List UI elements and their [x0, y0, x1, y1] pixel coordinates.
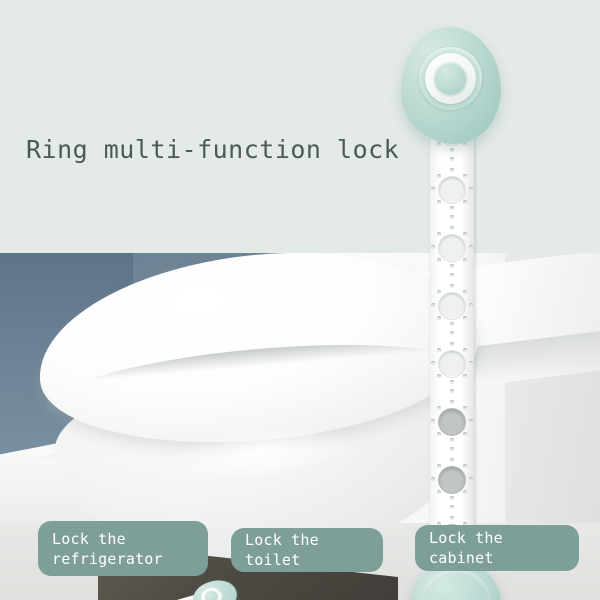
strap-dot — [450, 322, 454, 326]
strap-dot — [463, 174, 467, 178]
strap-hole-unit — [430, 342, 474, 400]
strap-dot — [450, 157, 454, 161]
strap-dot — [469, 303, 473, 307]
strap-dot — [450, 264, 454, 268]
badge-lock-the-refrigerator[interactable]: Lock the refrigerator — [38, 521, 208, 576]
strap-dot — [450, 168, 454, 172]
strap-dot — [437, 200, 441, 204]
title-banner: Ring multi-function lock — [0, 0, 600, 253]
strap-dot — [437, 290, 441, 294]
strap-hole — [438, 408, 466, 436]
strap-dot — [450, 380, 454, 384]
strap-dot — [450, 226, 454, 230]
strap-dot — [469, 361, 473, 365]
installed-lock-left — [125, 578, 255, 600]
strap-dot — [450, 400, 454, 404]
strap-dot — [450, 148, 454, 152]
strap-dot — [463, 490, 467, 494]
strap-dot — [450, 206, 454, 210]
strap-dot — [469, 187, 473, 191]
strap-dot — [437, 316, 441, 320]
strap-dot — [463, 200, 467, 204]
strap-dot — [431, 361, 435, 365]
product-image-canvas: Ring multi-function lock — [0, 0, 600, 600]
strap-hole — [438, 466, 466, 494]
strap-dot — [431, 419, 435, 423]
strap-dot — [450, 496, 454, 500]
strap-dot — [437, 374, 441, 378]
lock-head-knob — [434, 62, 467, 95]
strap-dot — [469, 245, 473, 249]
strap-dot — [437, 174, 441, 178]
strap-dot — [463, 142, 467, 146]
strap-dot — [437, 232, 441, 236]
strap-dot — [431, 477, 435, 481]
strap-dot — [450, 389, 454, 393]
lock-strap — [430, 110, 474, 540]
strap-dot — [463, 406, 467, 410]
strap-dot — [463, 316, 467, 320]
strap-dot — [450, 342, 454, 346]
strap-dot — [463, 374, 467, 378]
strap-dot — [450, 215, 454, 219]
strap-dot — [437, 258, 441, 262]
strap-dot — [437, 348, 441, 352]
strap-dot — [431, 245, 435, 249]
badge-lock-the-toilet[interactable]: Lock the toilet — [231, 528, 383, 572]
strap-hole-unit — [430, 400, 474, 458]
strap-dot — [463, 290, 467, 294]
badge-lock-the-cabinet[interactable]: Lock the cabinet — [415, 525, 579, 571]
strap-dot — [463, 348, 467, 352]
strap-dot — [450, 458, 454, 462]
strap-dot — [463, 258, 467, 262]
strap-dot — [450, 447, 454, 451]
strap-dot — [450, 438, 454, 442]
installed-lock-head — [190, 576, 240, 600]
strap-dot — [437, 490, 441, 494]
strap-hole-unit — [430, 226, 474, 284]
strap-dot — [463, 432, 467, 436]
strap-hole — [438, 234, 466, 262]
strap-dot — [463, 464, 467, 468]
strap-dot — [431, 187, 435, 191]
strap-dot — [450, 505, 454, 509]
strap-hole — [438, 176, 466, 204]
strap-dot — [450, 273, 454, 277]
strap-dot — [463, 232, 467, 236]
strap-dot — [450, 284, 454, 288]
strap-hole-unit — [430, 284, 474, 342]
strap-dot — [437, 406, 441, 410]
strap-dot — [469, 419, 473, 423]
strap-hole — [438, 350, 466, 378]
strap-dot — [437, 432, 441, 436]
strap-dot — [469, 477, 473, 481]
strap-hole-unit — [430, 168, 474, 226]
strap-dot — [437, 142, 441, 146]
page-title: Ring multi-function lock — [26, 135, 399, 164]
strap-hole — [438, 292, 466, 320]
strap-hole-unit — [430, 458, 474, 516]
strap-dot — [450, 331, 454, 335]
strap-dot — [437, 464, 441, 468]
strap-dot — [431, 303, 435, 307]
strap-dot — [450, 516, 454, 520]
